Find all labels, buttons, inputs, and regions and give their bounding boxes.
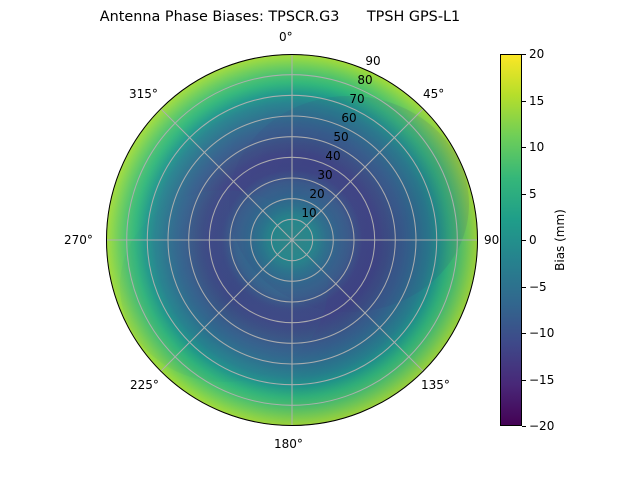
figure-canvas: Antenna Phase Biases: TPSCR.G3 TPSH GPS-… <box>0 0 640 480</box>
theta-tick-180: 180° <box>274 437 303 451</box>
colorbar-tick-0: 0 <box>529 234 537 246</box>
theta-tick-225: 225° <box>130 378 159 392</box>
colorbar-tickmark <box>522 380 526 381</box>
r-tick-80: 80 <box>357 73 372 87</box>
r-tick-70: 70 <box>349 92 364 106</box>
theta-tick-135: 135° <box>421 378 450 392</box>
r-tick-20: 20 <box>309 187 324 201</box>
theta-tick-315: 315° <box>129 87 158 101</box>
colorbar-tick-5: 5 <box>529 188 537 200</box>
r-tick-30: 30 <box>317 168 332 182</box>
colorbar-tickmark <box>522 333 526 334</box>
colorbar-gradient <box>500 54 522 426</box>
theta-tick-0: 0° <box>279 30 293 44</box>
colorbar-tick-20: 20 <box>529 48 544 60</box>
colorbar-tickmark <box>522 147 526 148</box>
page-title: Antenna Phase Biases: TPSCR.G3 TPSH GPS-… <box>0 8 560 26</box>
colorbar-tickmark <box>522 287 526 288</box>
colorbar-tick-15: 15 <box>529 95 544 107</box>
theta-tick-45: 45° <box>423 87 444 101</box>
polar-heatmap-image <box>106 54 478 426</box>
r-tick-90: 90 <box>365 54 380 68</box>
colorbar-tick-neg15: −15 <box>529 374 554 386</box>
r-tick-60: 60 <box>341 111 356 125</box>
theta-tick-270: 270° <box>64 233 93 247</box>
colorbar-tickmark <box>522 240 526 241</box>
colorbar[interactable]: 20 15 10 5 0 −5 −10 −15 −20 <box>500 54 522 426</box>
colorbar-tick-neg10: −10 <box>529 327 554 339</box>
colorbar-tickmark <box>522 101 526 102</box>
colorbar-tick-neg20: −20 <box>529 420 554 432</box>
r-tick-50: 50 <box>333 130 348 144</box>
colorbar-tick-neg5: −5 <box>529 281 547 293</box>
r-tick-40: 40 <box>325 149 340 163</box>
r-tick-10: 10 <box>301 206 316 220</box>
colorbar-tickmark <box>522 426 526 427</box>
polar-data-surface <box>106 54 478 426</box>
polar-axes[interactable] <box>106 54 478 426</box>
colorbar-tick-10: 10 <box>529 141 544 153</box>
colorbar-axis-label: Bias (mm) <box>554 209 566 271</box>
colorbar-tickmark <box>522 54 526 55</box>
colorbar-tickmark <box>522 194 526 195</box>
